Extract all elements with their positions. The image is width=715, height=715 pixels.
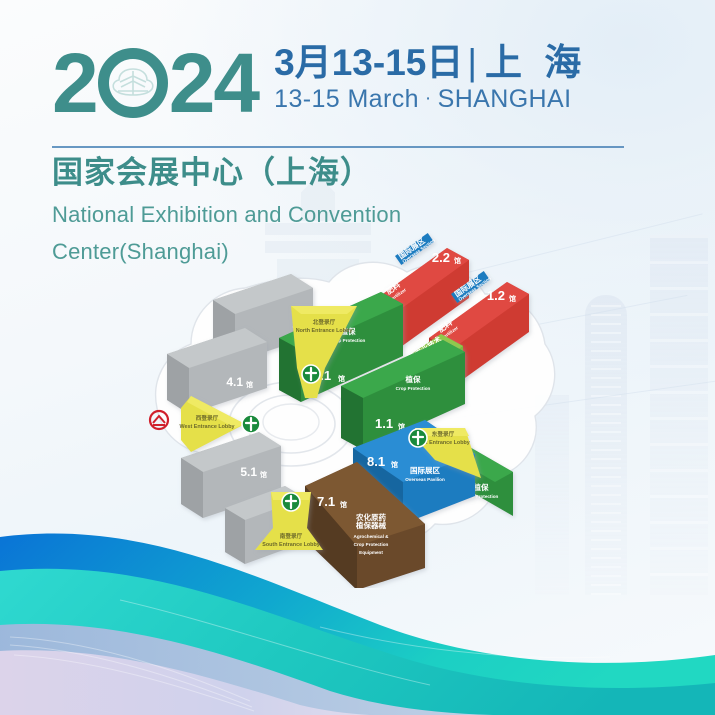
hall-8-1-number: 8.1 [367, 454, 385, 469]
east-entrance-marker [409, 429, 427, 447]
date-cn: 3月13-15日 [274, 42, 463, 83]
west-entrance-marker [242, 415, 260, 433]
lobby-east-cn: 东登录厅 [432, 430, 455, 438]
year-logo: 2 24 [52, 45, 258, 122]
necc-quatrefoil-icon [110, 65, 156, 101]
date-en-line: 13-15 March·SHANGHAI [274, 84, 587, 114]
hall-1-1-en: Crop Protection [396, 386, 431, 391]
year-digits-24: 24 [169, 45, 258, 122]
city-cn: 上 海 [481, 42, 587, 83]
hall-8-1-cn: 国际展区 [410, 465, 440, 475]
hall-4-1-unit: 馆 [246, 380, 253, 389]
lobby-north-cn: 北登录厅 [313, 318, 336, 326]
hall-5-1-number: 5.1 [240, 465, 257, 479]
bottom-wave-decoration [0, 505, 715, 715]
necc-building-ring-icon [98, 48, 168, 118]
venue-name-cn: 国家会展中心（上海） [52, 152, 522, 194]
lobby-west-en: West Entrance Lobby [179, 424, 234, 430]
north-entrance-marker [302, 365, 320, 383]
hall-2-1-unit: 馆 [338, 374, 345, 383]
hall-2-2-number: 2.2 [432, 250, 450, 265]
lobby-north-en: North Entrance Lobby [296, 328, 353, 334]
poster-root: 2 24 3 [0, 0, 715, 715]
hall-8-1-unit: 馆 [391, 460, 398, 469]
hall-1-2-unit: 馆 [509, 294, 516, 303]
header-divider [52, 146, 624, 148]
venue-name-en-line1: National Exhibition and Convention [52, 198, 522, 231]
hall-1-1-number: 1.1 [375, 416, 393, 431]
hall-2-2-unit: 馆 [454, 256, 461, 265]
date-cn-line: 3月13-15日|上 海 [274, 44, 587, 83]
date-block: 3月13-15日|上 海 13-15 March·SHANGHAI [274, 44, 587, 122]
hall-1-2-number: 1.2 [487, 288, 505, 303]
date-en: 13-15 March [274, 85, 419, 113]
hall-5-1-unit: 馆 [260, 470, 267, 479]
date-en-dot: · [419, 88, 438, 109]
poster-header: 2 24 3 [52, 44, 662, 122]
city-en: SHANGHAI [438, 85, 572, 113]
date-separator: | [463, 42, 481, 83]
lobby-west-cn: 西登录厅 [196, 414, 219, 422]
hall-4-1-number: 4.1 [226, 375, 243, 389]
hall-1-1-cn: 植保 [405, 374, 421, 384]
hall-8-1-en: Overseas Pavilion [405, 477, 445, 482]
year-digit-2: 2 [52, 45, 97, 122]
